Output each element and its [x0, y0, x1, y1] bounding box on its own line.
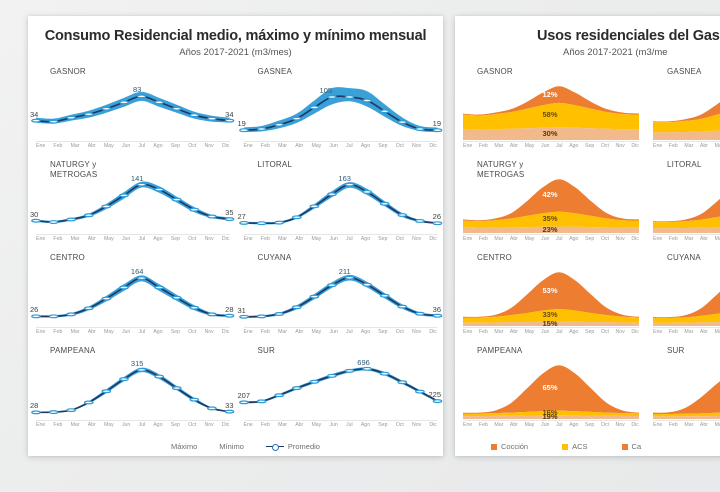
percent-label: 23% [542, 225, 557, 234]
axis-tick-may: May [715, 237, 720, 242]
axis-tick-ene: Ene [653, 330, 662, 335]
axis-tick-feb: Feb [479, 423, 488, 428]
month-axis: EneFebMarAbrMayJunJulAgoSepOctNovDic [653, 327, 720, 338]
axis-tick-may: May [104, 237, 114, 242]
axis-tick-ene: Ene [244, 144, 253, 149]
month-axis: EneFebMarAbrMayJunJulAgoSepOctNovDic [244, 234, 438, 245]
axis-tick-feb: Feb [261, 144, 270, 149]
axis-tick-abr: Abr [295, 423, 303, 428]
axis-tick-sep: Sep [585, 237, 594, 242]
axis-tick-jun: Jun [541, 330, 549, 335]
legend-item-coccion: Cocción [491, 442, 528, 451]
axis-tick-sep: Sep [171, 330, 180, 335]
axis-tick-dic: Dic [222, 237, 230, 242]
chart-cell-title: CENTRO [477, 253, 512, 263]
axis-tick-oct: Oct [601, 237, 609, 242]
axis-tick-nov: Nov [412, 237, 421, 242]
axis-tick-feb: Feb [669, 237, 678, 242]
axis-tick-oct: Oct [188, 330, 196, 335]
value-label: 164 [131, 267, 144, 276]
axis-tick-jul: Jul [556, 144, 563, 149]
month-axis: EneFebMarAbrMayJunJulAgoSepOctNovDic [244, 420, 438, 431]
axis-tick-may: May [525, 237, 535, 242]
axis-tick-mar: Mar [278, 330, 287, 335]
axis-tick-dic: Dic [222, 423, 230, 428]
axis-tick-ene: Ene [653, 423, 662, 428]
axis-tick-jun: Jun [329, 237, 337, 242]
axis-tick-mar: Mar [278, 423, 287, 428]
axis-tick-sep: Sep [378, 423, 387, 428]
axis-tick-may: May [311, 237, 321, 242]
axis-tick-dic: Dic [429, 423, 437, 428]
plot-area [653, 357, 720, 419]
axis-tick-oct: Oct [396, 330, 404, 335]
axis-tick-may: May [104, 330, 114, 335]
chart-cell-title: SUR [667, 346, 685, 356]
axis-tick-feb: Feb [261, 423, 270, 428]
axis-tick-mar: Mar [71, 423, 80, 428]
right-chart-grid: GASNOREneFebMarAbrMayJunJulAgoSepOctNovD… [455, 62, 720, 434]
axis-tick-ene: Ene [244, 423, 253, 428]
month-axis: EneFebMarAbrMayJunJulAgoSepOctNovDic [36, 141, 230, 152]
axis-tick-jul: Jul [346, 330, 353, 335]
value-label: 83 [133, 85, 141, 94]
axis-tick-mar: Mar [684, 144, 693, 149]
axis-tick-may: May [525, 423, 535, 428]
axis-tick-feb: Feb [53, 330, 62, 335]
axis-tick-oct: Oct [396, 423, 404, 428]
axis-tick-ene: Ene [463, 237, 472, 242]
axis-tick-ago: Ago [361, 423, 370, 428]
axis-tick-mar: Mar [684, 423, 693, 428]
axis-tick-feb: Feb [479, 237, 488, 242]
axis-tick-abr: Abr [510, 144, 518, 149]
axis-tick-feb: Feb [479, 330, 488, 335]
axis-tick-jul: Jul [556, 237, 563, 242]
axis-tick-sep: Sep [171, 237, 180, 242]
chart-cell-litoral: LITORALEneFebMarAbrMayJunJulAgoSepOctNov… [645, 155, 720, 248]
chart-cell-centro: CENTROEneFebMarAbrMayJunJulAgoSepOctNovD… [28, 248, 236, 341]
percent-label: 53% [542, 286, 557, 295]
chart-cell-title: SUR [258, 346, 276, 356]
chart-cell-title: LITORAL [667, 160, 702, 170]
axis-tick-dic: Dic [222, 144, 230, 149]
right-panel-title: Usos residenciales del Gas [455, 28, 720, 44]
month-axis: EneFebMarAbrMayJunJulAgoSepOctNovDic [244, 141, 438, 152]
axis-tick-feb: Feb [261, 237, 270, 242]
chart-cell-cuyana: CUYANAEneFebMarAbrMayJunJulAgoSepOctNovD… [236, 248, 444, 341]
axis-tick-ago: Ago [153, 423, 162, 428]
panel-consumo-residencial: Consumo Residencial medio, máximo y míni… [28, 16, 443, 456]
chart-cell-title: LITORAL [258, 160, 293, 170]
axis-tick-jul: Jul [346, 237, 353, 242]
axis-tick-ago: Ago [153, 144, 162, 149]
axis-tick-ene: Ene [36, 237, 45, 242]
axis-tick-oct: Oct [601, 330, 609, 335]
axis-tick-nov: Nov [204, 423, 213, 428]
value-label: 26 [433, 212, 441, 221]
axis-tick-dic: Dic [429, 144, 437, 149]
axis-tick-nov: Nov [616, 330, 625, 335]
chart-cell-centro: CENTROEneFebMarAbrMayJunJulAgoSepOctNovD… [455, 248, 645, 341]
chart-cell-sur: SUREneFebMarAbrMayJunJulAgoSepOctNovDic [645, 341, 720, 434]
axis-tick-ago: Ago [153, 330, 162, 335]
month-axis: EneFebMarAbrMayJunJulAgoSepOctNovDic [463, 141, 639, 152]
axis-tick-mar: Mar [71, 237, 80, 242]
chart-cell-naturgy-y-metrogas: NATURGY y METROGASEneFebMarAbrMayJunJulA… [28, 155, 236, 248]
axis-tick-abr: Abr [510, 237, 518, 242]
axis-tick-abr: Abr [700, 423, 708, 428]
chart-cell-pampeana: PAMPEANAEneFebMarAbrMayJunJulAgoSepOctNo… [28, 341, 236, 434]
left-panel-title: Consumo Residencial medio, máximo y míni… [28, 28, 443, 44]
month-axis: EneFebMarAbrMayJunJulAgoSepOctNovDic [244, 327, 438, 338]
axis-tick-sep: Sep [378, 144, 387, 149]
chart-cell-gasnor: GASNOREneFebMarAbrMayJunJulAgoSepOctNovD… [28, 62, 236, 155]
value-label: 696 [357, 358, 370, 367]
value-label: 28 [225, 305, 233, 314]
percent-label: 19% [542, 412, 557, 421]
axis-tick-jun: Jun [122, 330, 130, 335]
axis-tick-oct: Oct [601, 144, 609, 149]
month-axis: EneFebMarAbrMayJunJulAgoSepOctNovDic [653, 234, 720, 245]
axis-tick-mar: Mar [71, 330, 80, 335]
axis-tick-jun: Jun [122, 423, 130, 428]
axis-tick-ene: Ene [244, 237, 253, 242]
axis-tick-sep: Sep [585, 144, 594, 149]
axis-tick-dic: Dic [631, 423, 639, 428]
axis-tick-jul: Jul [556, 423, 563, 428]
chart-cell-litoral: LITORALEneFebMarAbrMayJunJulAgoSepOctNov… [236, 155, 444, 248]
promedio-swatch-icon [266, 443, 284, 450]
axis-tick-sep: Sep [171, 423, 180, 428]
axis-tick-sep: Sep [378, 330, 387, 335]
axis-tick-mar: Mar [684, 237, 693, 242]
axis-tick-ene: Ene [463, 330, 472, 335]
legend-item-acs: ACS [562, 442, 587, 451]
axis-tick-may: May [715, 423, 720, 428]
legend-label-acs: ACS [572, 442, 587, 451]
axis-tick-dic: Dic [222, 330, 230, 335]
chart-cell-naturgy-y-metrogas: NATURGY y METROGASEneFebMarAbrMayJunJulA… [455, 155, 645, 248]
legend-label-calefaccion: Ca [632, 442, 642, 451]
value-label: 33 [225, 401, 233, 410]
axis-tick-feb: Feb [261, 330, 270, 335]
axis-tick-feb: Feb [669, 423, 678, 428]
axis-tick-abr: Abr [295, 144, 303, 149]
axis-tick-jun: Jun [541, 423, 549, 428]
chart-cell-cuyana: CUYANAEneFebMarAbrMayJunJulAgoSepOctNovD… [645, 248, 720, 341]
right-panel-subtitle: Años 2017-2021 (m3/me [455, 47, 720, 58]
percent-label: 42% [542, 190, 557, 199]
axis-tick-feb: Feb [53, 237, 62, 242]
axis-tick-mar: Mar [71, 144, 80, 149]
month-axis: EneFebMarAbrMayJunJulAgoSepOctNovDic [463, 234, 639, 245]
axis-tick-abr: Abr [295, 330, 303, 335]
axis-tick-oct: Oct [396, 237, 404, 242]
axis-tick-feb: Feb [53, 144, 62, 149]
chart-cell-gasnea: GASNEAEneFebMarAbrMayJunJulAgoSepOctNovD… [645, 62, 720, 155]
axis-tick-jun: Jun [329, 423, 337, 428]
left-panel-subtitle: Años 2017-2021 (m3/mes) [28, 47, 443, 58]
axis-tick-abr: Abr [700, 330, 708, 335]
axis-tick-abr: Abr [88, 237, 96, 242]
axis-tick-feb: Feb [479, 144, 488, 149]
axis-tick-jun: Jun [329, 330, 337, 335]
axis-tick-sep: Sep [171, 144, 180, 149]
legend-item-maximo: Máximo [151, 442, 197, 451]
chart-cell-sur: SUREneFebMarAbrMayJunJulAgoSepOctNovDic2… [236, 341, 444, 434]
axis-tick-ene: Ene [36, 144, 45, 149]
axis-tick-ene: Ene [653, 144, 662, 149]
axis-tick-jul: Jul [139, 237, 146, 242]
axis-tick-mar: Mar [494, 237, 503, 242]
axis-tick-may: May [311, 423, 321, 428]
plot-area [653, 264, 720, 326]
percent-label: 35% [542, 214, 557, 223]
axis-tick-jul: Jul [556, 330, 563, 335]
panel-usos-residenciales: Usos residenciales del Gas Años 2017-202… [455, 16, 720, 456]
axis-tick-oct: Oct [188, 423, 196, 428]
left-legend: Máximo Mínimo Promedio [28, 442, 443, 451]
chart-cell-title: CUYANA [258, 253, 292, 263]
acs-swatch-icon [562, 444, 568, 450]
axis-tick-dic: Dic [631, 144, 639, 149]
axis-tick-mar: Mar [278, 237, 287, 242]
axis-tick-ago: Ago [569, 237, 578, 242]
axis-tick-may: May [525, 330, 535, 335]
axis-tick-jul: Jul [346, 144, 353, 149]
value-label: 225 [428, 390, 441, 399]
axis-tick-dic: Dic [429, 237, 437, 242]
chart-cell-gasnor: GASNOREneFebMarAbrMayJunJulAgoSepOctNovD… [455, 62, 645, 155]
axis-tick-abr: Abr [700, 237, 708, 242]
axis-tick-ene: Ene [463, 423, 472, 428]
axis-tick-nov: Nov [616, 237, 625, 242]
axis-tick-feb: Feb [53, 423, 62, 428]
axis-tick-jul: Jul [139, 423, 146, 428]
legend-item-minimo: Mínimo [219, 442, 244, 451]
screenshot-root: Consumo Residencial medio, máximo y míni… [0, 0, 720, 492]
legend-item-calefaccion: Ca [622, 442, 642, 451]
plot-area [653, 171, 720, 233]
axis-tick-jun: Jun [122, 144, 130, 149]
axis-tick-ago: Ago [569, 144, 578, 149]
axis-tick-ago: Ago [361, 330, 370, 335]
value-label: 207 [238, 391, 251, 400]
axis-tick-ene: Ene [653, 237, 662, 242]
value-label: 28 [30, 401, 38, 410]
axis-tick-may: May [104, 144, 114, 149]
axis-tick-abr: Abr [88, 144, 96, 149]
month-axis: EneFebMarAbrMayJunJulAgoSepOctNovDic [36, 234, 230, 245]
axis-tick-abr: Abr [295, 237, 303, 242]
axis-tick-mar: Mar [278, 144, 287, 149]
axis-tick-jul: Jul [139, 330, 146, 335]
chart-cell-title: CUYANA [667, 253, 701, 263]
chart-cell-title: GASNEA [667, 67, 702, 77]
plot-area [653, 78, 720, 140]
legend-label-minimo: Mínimo [219, 442, 244, 451]
left-chart-grid: GASNOREneFebMarAbrMayJunJulAgoSepOctNovD… [28, 62, 443, 434]
axis-tick-dic: Dic [631, 330, 639, 335]
value-label: 163 [338, 174, 351, 183]
axis-tick-oct: Oct [396, 144, 404, 149]
legend-label-maximo: Máximo [171, 442, 197, 451]
axis-tick-may: May [525, 144, 535, 149]
axis-tick-ago: Ago [153, 237, 162, 242]
axis-tick-mar: Mar [494, 144, 503, 149]
axis-tick-abr: Abr [700, 144, 708, 149]
percent-label: 30% [542, 129, 557, 138]
value-label: 26 [30, 305, 38, 314]
axis-tick-ene: Ene [244, 330, 253, 335]
axis-tick-nov: Nov [616, 423, 625, 428]
month-axis: EneFebMarAbrMayJunJulAgoSepOctNovDic [463, 327, 639, 338]
value-label: 105 [320, 86, 333, 95]
month-axis: EneFebMarAbrMayJunJulAgoSepOctNovDic [36, 420, 230, 431]
chart-cell-gasnea: GASNEAEneFebMarAbrMayJunJulAgoSepOctNovD… [236, 62, 444, 155]
value-label: 211 [339, 267, 351, 276]
axis-tick-nov: Nov [412, 144, 421, 149]
axis-tick-ago: Ago [569, 330, 578, 335]
value-label: 27 [238, 212, 246, 221]
axis-tick-sep: Sep [378, 237, 387, 242]
axis-tick-oct: Oct [188, 144, 196, 149]
axis-tick-may: May [311, 330, 321, 335]
plot-area [244, 357, 438, 419]
axis-tick-abr: Abr [510, 423, 518, 428]
axis-tick-jun: Jun [541, 144, 549, 149]
percent-label: 12% [542, 90, 557, 99]
right-legend: Cocción ACS Ca [455, 442, 720, 451]
axis-tick-ene: Ene [36, 423, 45, 428]
axis-tick-nov: Nov [412, 423, 421, 428]
axis-tick-feb: Feb [669, 330, 678, 335]
chart-cell-title: PAMPEANA [477, 346, 522, 356]
axis-tick-jun: Jun [122, 237, 130, 242]
plot-area [244, 78, 438, 140]
axis-tick-sep: Sep [585, 423, 594, 428]
axis-tick-jul: Jul [346, 423, 353, 428]
axis-tick-may: May [311, 144, 321, 149]
axis-tick-ago: Ago [569, 423, 578, 428]
percent-label: 65% [542, 383, 557, 392]
axis-tick-nov: Nov [412, 330, 421, 335]
axis-tick-nov: Nov [204, 330, 213, 335]
axis-tick-ago: Ago [361, 237, 370, 242]
coccion-swatch-icon [491, 444, 497, 450]
axis-tick-nov: Nov [204, 144, 213, 149]
axis-tick-mar: Mar [684, 330, 693, 335]
axis-tick-dic: Dic [631, 237, 639, 242]
value-label: 36 [433, 305, 441, 314]
plot-area [463, 171, 639, 233]
axis-tick-mar: Mar [494, 423, 503, 428]
axis-tick-oct: Oct [601, 423, 609, 428]
axis-tick-nov: Nov [616, 144, 625, 149]
value-label: 31 [238, 306, 246, 315]
value-label: 315 [131, 359, 144, 368]
value-label: 34 [225, 110, 233, 119]
axis-tick-abr: Abr [510, 330, 518, 335]
axis-tick-feb: Feb [669, 144, 678, 149]
percent-label: 15% [542, 319, 557, 328]
axis-tick-abr: Abr [88, 330, 96, 335]
month-axis: EneFebMarAbrMayJunJulAgoSepOctNovDic [36, 327, 230, 338]
axis-tick-abr: Abr [88, 423, 96, 428]
axis-tick-jul: Jul [139, 144, 146, 149]
axis-tick-dic: Dic [429, 330, 437, 335]
chart-cell-title: GASNOR [477, 67, 513, 77]
axis-tick-ago: Ago [361, 144, 370, 149]
axis-tick-oct: Oct [188, 237, 196, 242]
month-axis: EneFebMarAbrMayJunJulAgoSepOctNovDic [653, 420, 720, 431]
chart-cell-title: PAMPEANA [50, 346, 95, 356]
chart-cell-title: GASNOR [50, 67, 86, 77]
value-label: 34 [30, 110, 38, 119]
legend-item-promedio: Promedio [266, 442, 320, 451]
chart-cell-title: CENTRO [50, 253, 85, 263]
axis-tick-may: May [104, 423, 114, 428]
month-axis: EneFebMarAbrMayJunJulAgoSepOctNovDic [463, 420, 639, 431]
axis-tick-may: May [715, 144, 720, 149]
value-label: 141 [131, 174, 144, 183]
axis-tick-sep: Sep [585, 330, 594, 335]
axis-tick-jun: Jun [541, 237, 549, 242]
value-label: 30 [30, 210, 38, 219]
axis-tick-nov: Nov [204, 237, 213, 242]
axis-tick-mar: Mar [494, 330, 503, 335]
maximo-swatch-icon [151, 444, 167, 449]
value-label: 19 [238, 119, 246, 128]
value-label: 35 [225, 208, 233, 217]
chart-cell-title: GASNEA [258, 67, 293, 77]
value-label: 19 [433, 119, 441, 128]
month-axis: EneFebMarAbrMayJunJulAgoSepOctNovDic [653, 141, 720, 152]
chart-cell-pampeana: PAMPEANAEneFebMarAbrMayJunJulAgoSepOctNo… [455, 341, 645, 434]
legend-label-coccion: Cocción [501, 442, 528, 451]
axis-tick-may: May [715, 330, 720, 335]
legend-label-promedio: Promedio [288, 442, 320, 451]
axis-tick-jun: Jun [329, 144, 337, 149]
calefaccion-swatch-icon [622, 444, 628, 450]
percent-label: 58% [542, 110, 557, 119]
axis-tick-ene: Ene [36, 330, 45, 335]
axis-tick-ene: Ene [463, 144, 472, 149]
